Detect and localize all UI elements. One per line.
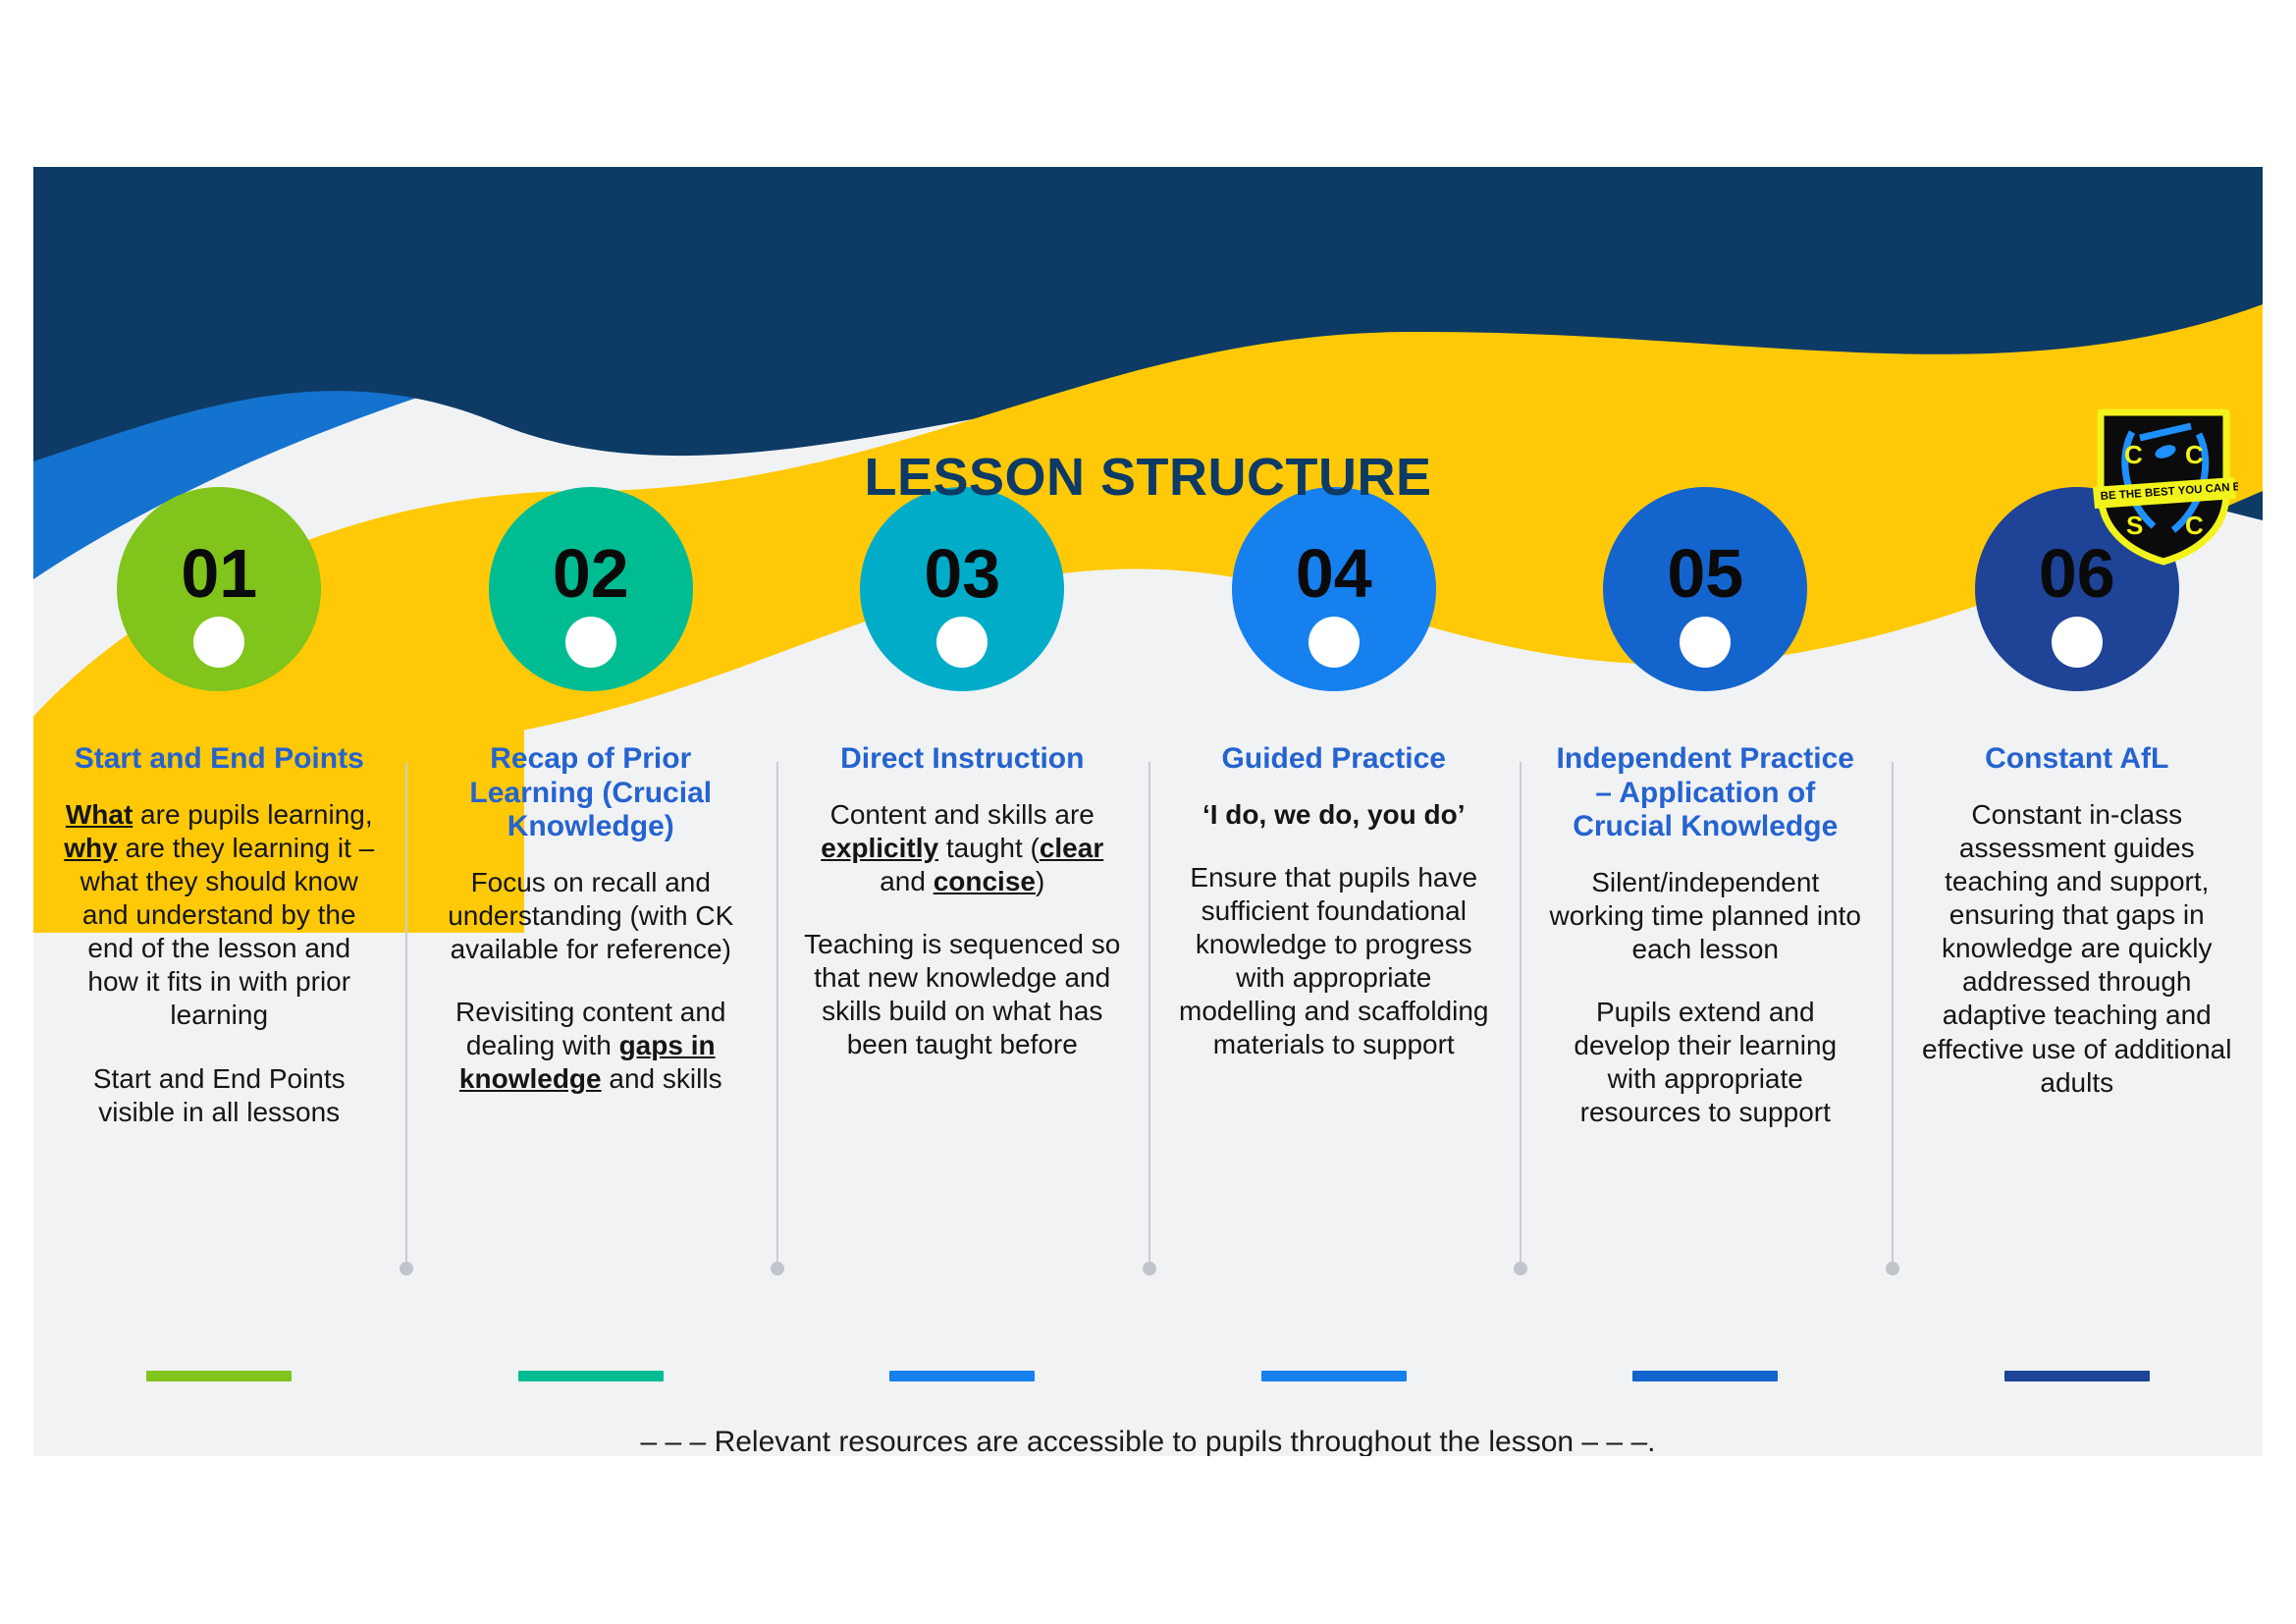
accent-bar-cell-1	[33, 1371, 405, 1390]
step-accent-bars-row	[33, 1371, 2263, 1390]
step-body-5: Silent/independent working time planned …	[1543, 866, 1868, 1130]
logo-letter-1: C	[2124, 440, 2143, 469]
step-number-02: 02	[553, 539, 629, 608]
step-column-2: Recap of Prior Learning (Crucial Knowled…	[405, 742, 777, 1351]
step-paragraph: Focus on recall and understanding (with …	[433, 866, 750, 966]
page-title: LESSON STRUCTURE	[33, 447, 2263, 508]
step-heading-6: Constant AfL	[1915, 742, 2240, 777]
accent-bar-cell-2	[405, 1371, 777, 1390]
step-circles-row: 01 02 03 04 05	[33, 487, 2263, 742]
step-circle-dot	[936, 617, 988, 668]
step-heading-4: Guided Practice	[1172, 742, 1497, 777]
step-heading-2: Recap of Prior Learning (Crucial Knowled…	[429, 742, 754, 844]
step-circle-cell-3: 03	[776, 487, 1148, 742]
step-number-04: 04	[1296, 539, 1372, 608]
step-paragraph: Start and End Points visible in all less…	[61, 1062, 378, 1129]
step-paragraph: Constant in-class assessment guides teac…	[1919, 798, 2236, 1100]
accent-bar-cell-4	[1148, 1371, 1521, 1390]
school-logo: C C S C BE THE BEST YOU CAN BE	[2089, 403, 2238, 568]
step-paragraph: ‘I do, we do, you do’	[1176, 798, 1493, 832]
step-heading-5: Independent Practice – Application of Cr…	[1543, 742, 1868, 844]
step-circle-dot	[1308, 617, 1360, 668]
step-circle-cell-2: 02	[405, 487, 777, 742]
step-paragraph: Teaching is sequenced so that new knowle…	[804, 928, 1121, 1062]
step-columns-row: Start and End Points What are pupils lea…	[33, 742, 2263, 1351]
accent-bar-6	[2004, 1371, 2150, 1381]
step-paragraph: What are pupils learning, why are they l…	[61, 798, 378, 1033]
logo-letter-3: S	[2126, 511, 2143, 540]
column-divider	[1520, 762, 1522, 1268]
column-divider	[1892, 762, 1894, 1268]
accent-bar-3	[889, 1371, 1035, 1381]
infographic-canvas: LESSON STRUCTURE C C S C BE THE BEST YOU…	[33, 167, 2263, 1456]
step-body-3: Content and skills are explicitly taught…	[800, 798, 1125, 1062]
column-divider	[405, 762, 407, 1268]
step-circle-dot	[565, 617, 616, 668]
step-number-05: 05	[1667, 539, 1743, 608]
step-paragraph: Ensure that pupils have sufficient found…	[1176, 861, 1493, 1062]
step-column-3: Direct Instruction Content and skills ar…	[776, 742, 1148, 1351]
step-column-4: Guided Practice ‘I do, we do, you do’ En…	[1148, 742, 1521, 1351]
accent-bar-cell-6	[1892, 1371, 2264, 1390]
step-column-6: Constant AfL Constant in-class assessmen…	[1892, 742, 2264, 1351]
step-number-01: 01	[181, 539, 257, 608]
step-column-5: Independent Practice – Application of Cr…	[1520, 742, 1892, 1351]
accent-bar-cell-5	[1520, 1371, 1892, 1390]
column-divider	[1148, 762, 1150, 1268]
step-heading-1: Start and End Points	[57, 742, 382, 777]
column-divider	[776, 762, 778, 1268]
step-circle-05[interactable]: 05	[1603, 487, 1807, 691]
step-circle-cell-5: 05	[1520, 487, 1892, 742]
step-heading-3: Direct Instruction	[800, 742, 1125, 777]
step-number-03: 03	[924, 539, 1000, 608]
step-body-2: Focus on recall and understanding (with …	[429, 866, 754, 1097]
step-circle-dot	[193, 617, 244, 668]
step-circle-dot	[1680, 617, 1731, 668]
step-paragraph: Pupils extend and develop their learning…	[1547, 996, 1864, 1130]
accent-bar-2	[518, 1371, 664, 1381]
step-paragraph: Content and skills are explicitly taught…	[804, 798, 1121, 898]
step-circle-cell-4: 04	[1148, 487, 1521, 742]
step-column-1: Start and End Points What are pupils lea…	[33, 742, 405, 1351]
logo-letter-2: C	[2185, 440, 2204, 469]
accent-bar-cell-3	[776, 1371, 1148, 1390]
step-circle-cell-1: 01	[33, 487, 405, 742]
step-body-1: What are pupils learning, why are they l…	[57, 798, 382, 1129]
step-body-6: Constant in-class assessment guides teac…	[1915, 798, 2240, 1100]
step-circle-dot	[2052, 617, 2103, 668]
step-paragraph: Revisiting content and dealing with gaps…	[433, 996, 750, 1096]
accent-bar-4	[1261, 1371, 1407, 1381]
step-paragraph: Silent/independent working time planned …	[1547, 866, 1864, 966]
footer-note: – – – Relevant resources are accessible …	[33, 1426, 2263, 1456]
logo-letter-4: C	[2185, 511, 2204, 540]
accent-bar-1	[146, 1371, 292, 1381]
step-circle-02[interactable]: 02	[489, 487, 693, 691]
step-body-4: ‘I do, we do, you do’ Ensure that pupils…	[1172, 798, 1497, 1062]
accent-bar-5	[1632, 1371, 1778, 1381]
step-circle-01[interactable]: 01	[117, 487, 321, 691]
step-circle-03[interactable]: 03	[860, 487, 1064, 691]
step-circle-04[interactable]: 04	[1232, 487, 1436, 691]
